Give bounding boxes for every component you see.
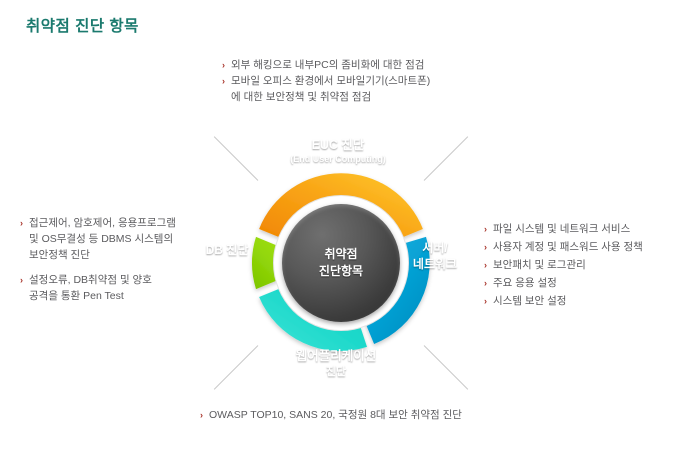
annotation-item: › 모바일 오피스 환경에서 모바일기기(스마트폰) — [222, 74, 430, 89]
annotation-text: 보안패치 및 로그관리 — [493, 259, 586, 271]
annotation-text: 주요 응용 설정 — [493, 277, 557, 289]
annotation-item: › 접근제어, 암호제어, 응용프로그램 — [20, 216, 176, 231]
annotation-item-continuation: 보안정책 진단 — [20, 248, 176, 263]
annotation-text: 시스템 보안 설정 — [493, 295, 566, 307]
bullet-arrow-icon: › — [222, 58, 225, 73]
bullet-arrow-icon: › — [484, 222, 487, 237]
bullet-arrow-icon: › — [222, 74, 225, 89]
annotation-item: › 외부 해킹으로 내부PC의 좀비화에 대한 점검 — [222, 58, 430, 73]
bullet-arrow-icon: › — [484, 258, 487, 273]
annotation-item: › 파일 시스템 및 네트워크 서비스 — [484, 222, 643, 237]
annotation-text: 접근제어, 암호제어, 응용프로그램 — [29, 217, 176, 229]
annotation-text: 및 OS무결성 등 DBMS 시스템의 — [29, 233, 173, 245]
annotation-item: › 주요 응용 설정 — [484, 276, 643, 291]
bullet-arrow-icon: › — [484, 294, 487, 309]
vulnerability-donut-chart: 취약점 진단항목 — [225, 147, 457, 379]
annotation-web-application: › OWASP TOP10, SANS 20, 국정원 8대 보안 취약점 진단 — [200, 408, 462, 424]
annotation-text: 보안정책 진단 — [29, 249, 90, 261]
bullet-arrow-icon: › — [484, 276, 487, 291]
bullet-arrow-icon: › — [20, 216, 23, 231]
annotation-text: OWASP TOP10, SANS 20, 국정원 8대 보안 취약점 진단 — [209, 409, 462, 421]
annotation-item-continuation: 공격을 통환 Pen Test — [20, 289, 176, 304]
annotation-euc: › 외부 해킹으로 내부PC의 좀비화에 대한 점검 › 모바일 오피스 환경에… — [222, 58, 430, 106]
hub-ring: 취약점 진단항목 — [274, 196, 408, 330]
annotation-text: 파일 시스템 및 네트워크 서비스 — [493, 223, 630, 235]
bullet-arrow-icon: › — [200, 408, 203, 423]
bullet-arrow-icon: › — [484, 240, 487, 255]
annotation-item-continuation: 및 OS무결성 등 DBMS 시스템의 — [20, 232, 176, 247]
bullet-arrow-icon: › — [20, 273, 23, 288]
annotation-item: › 보안패치 및 로그관리 — [484, 258, 643, 273]
annotation-text: 공격을 통환 Pen Test — [29, 290, 124, 302]
annotation-server-network: › 파일 시스템 및 네트워크 서비스 › 사용자 계정 및 패스워드 사용 정… — [484, 222, 643, 312]
hub-label-line2: 진단항목 — [319, 263, 363, 280]
annotation-item: › 사용자 계정 및 패스워드 사용 정책 — [484, 240, 643, 255]
annotation-item: › 설정오류, DB취약점 및 양호 — [20, 273, 176, 288]
annotation-text: 외부 해킹으로 내부PC의 좀비화에 대한 점검 — [231, 59, 424, 71]
annotation-text: 에 대한 보안정책 및 취약점 점검 — [231, 91, 371, 103]
annotation-text: 설정오류, DB취약점 및 양호 — [29, 274, 152, 286]
annotation-db: › 접근제어, 암호제어, 응용프로그램 및 OS무결성 등 DBMS 시스템의… — [20, 216, 176, 305]
annotation-item-continuation: 에 대한 보안정책 및 취약점 점검 — [222, 90, 430, 105]
hub-center: 취약점 진단항목 — [282, 204, 400, 322]
annotation-item: › OWASP TOP10, SANS 20, 국정원 8대 보안 취약점 진단 — [200, 408, 462, 423]
page-title: 취약점 진단 항목 — [26, 14, 139, 36]
annotation-text: 모바일 오피스 환경에서 모바일기기(스마트폰) — [231, 75, 430, 87]
annotation-item: › 시스템 보안 설정 — [484, 294, 643, 309]
annotation-text: 사용자 계정 및 패스워드 사용 정책 — [493, 241, 643, 253]
hub-label-line1: 취약점 — [324, 246, 357, 263]
